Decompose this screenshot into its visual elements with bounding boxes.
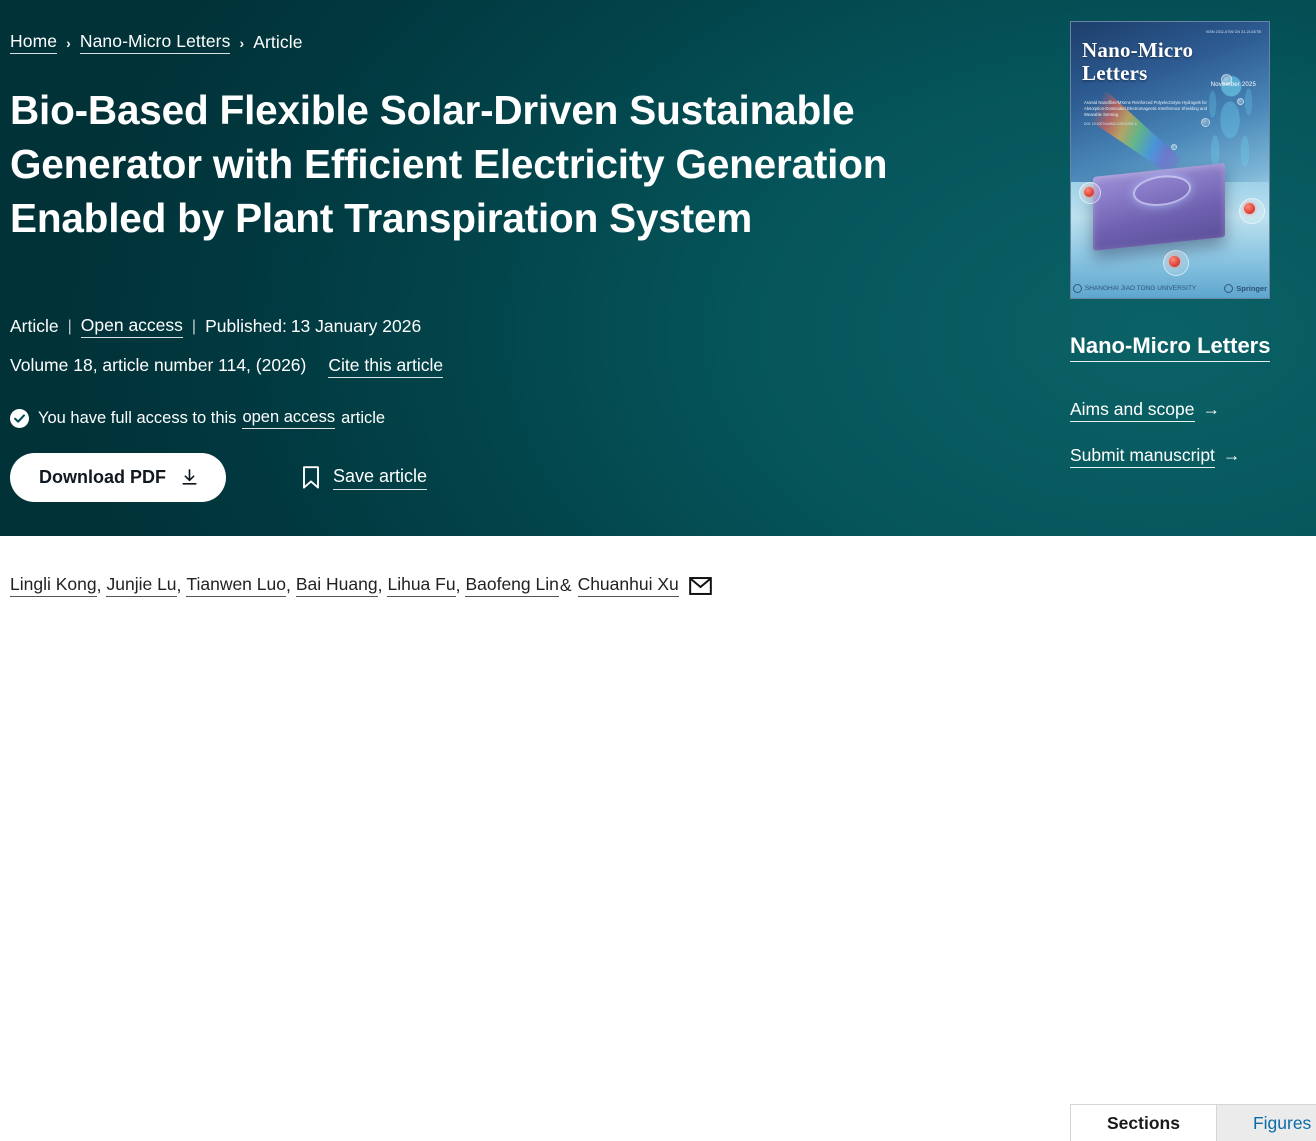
author-separator: , xyxy=(97,575,102,596)
breadcrumb-separator-icon: › xyxy=(66,35,71,51)
bookmark-icon xyxy=(302,466,320,489)
breadcrumb-current: Article xyxy=(253,32,302,53)
society-logo-text: SHANGHAI JIAO TONG UNIVERSITY xyxy=(1085,285,1196,292)
article-type: Article xyxy=(10,316,59,337)
cover-issn: ISSN 2311-6706 CN 31-2103/TB xyxy=(1206,30,1261,35)
submit-manuscript-label: Submit manuscript xyxy=(1070,445,1215,468)
cover-title: Nano-Micro Letters xyxy=(1082,39,1257,85)
cover-abstract-text: Aramid Nanofiber/MXene Reinforced Polyel… xyxy=(1084,100,1207,117)
tab-sections[interactable]: Sections xyxy=(1070,1104,1217,1141)
corresponding-author-email-icon[interactable] xyxy=(689,577,712,595)
cover-bubble xyxy=(1171,144,1177,150)
cover-title-line1: Nano-Micro xyxy=(1082,38,1193,62)
breadcrumb-separator-icon-2: › xyxy=(239,35,244,51)
tab-figures[interactable]: Figures xyxy=(1217,1104,1316,1141)
cover-red-particle xyxy=(1084,187,1094,197)
article-body-top: Lingli Kong,Junjie Lu,Tianwen Luo,Bai Hu… xyxy=(0,536,1316,605)
aims-and-scope-label: Aims and scope xyxy=(1070,399,1195,422)
arrow-right-icon-2: → xyxy=(1223,445,1241,465)
meta-divider-icon: | xyxy=(68,318,72,336)
cite-article-link[interactable]: Cite this article xyxy=(328,355,443,378)
journal-cover-image[interactable]: Nano-Micro Letters ISSN 2311-6706 CN 31-… xyxy=(1070,21,1270,299)
cover-artwork: Nano-Micro Letters ISSN 2311-6706 CN 31-… xyxy=(1071,22,1269,298)
content-tabs: SectionsFigures xyxy=(1070,1104,1316,1141)
author-separator: , xyxy=(177,575,182,596)
rail-journal-link[interactable]: Nano-Micro Letters xyxy=(1070,333,1270,362)
author-ampersand: & xyxy=(560,575,572,596)
cover-logos: SHANGHAI JIAO TONG UNIVERSITY Springer xyxy=(1071,284,1269,293)
author-link[interactable]: Lingli Kong xyxy=(10,574,97,597)
author-separator: , xyxy=(456,575,461,596)
download-pdf-button[interactable]: Download PDF xyxy=(10,453,226,502)
author-separator: , xyxy=(286,575,291,596)
meta-divider-icon-2: | xyxy=(192,318,196,336)
springer-logo: Springer xyxy=(1224,284,1267,293)
save-article-label: Save article xyxy=(333,466,427,490)
access-notice-post: article xyxy=(341,409,385,428)
springer-mark-icon xyxy=(1224,284,1233,293)
volume-info: Volume 18, article number 114, (2026) xyxy=(10,355,306,376)
author-link[interactable]: Chuanhui Xu xyxy=(578,574,679,597)
open-access-inline-link[interactable]: open access xyxy=(242,408,335,429)
save-article-button[interactable]: Save article xyxy=(302,466,427,490)
author-link[interactable]: Lihua Fu xyxy=(387,574,455,597)
cover-hydrogel-cube xyxy=(1093,163,1225,251)
breadcrumb: Home › Nano-Micro Letters › Article xyxy=(10,31,303,54)
breadcrumb-journal-link[interactable]: Nano-Micro Letters xyxy=(80,31,231,54)
download-icon xyxy=(180,468,199,487)
cover-title-line2: Letters xyxy=(1082,61,1148,85)
cover-bubble xyxy=(1237,98,1244,105)
submit-manuscript-link[interactable]: Submit manuscript→ xyxy=(1070,445,1240,466)
article-hero-banner: Home › Nano-Micro Letters › Article Bio-… xyxy=(0,0,1316,536)
full-access-notice: You have full access to this open access… xyxy=(10,408,385,429)
article-meta-line-2: Volume 18, article number 114, (2026) Ci… xyxy=(10,355,443,378)
author-list: Lingli Kong,Junjie Lu,Tianwen Luo,Bai Hu… xyxy=(10,574,712,597)
arrow-right-icon: → xyxy=(1203,399,1221,419)
society-logo: SHANGHAI JIAO TONG UNIVERSITY xyxy=(1073,284,1196,293)
author-link[interactable]: Baofeng Lin xyxy=(465,574,558,597)
download-pdf-label: Download PDF xyxy=(39,467,166,488)
breadcrumb-home-link[interactable]: Home xyxy=(10,31,57,54)
cover-red-particle xyxy=(1169,256,1180,267)
published-label: Published: xyxy=(205,316,287,337)
cover-feature-abstract: Aramid Nanofiber/MXene Reinforced Polyel… xyxy=(1084,100,1208,127)
journal-rail: Nano-Micro Letters ISSN 2311-6706 CN 31-… xyxy=(1070,0,1316,536)
cover-red-particle xyxy=(1244,203,1255,214)
article-actions: Download PDF Save article xyxy=(10,453,427,502)
author-link[interactable]: Tianwen Luo xyxy=(186,574,286,597)
cover-doi: DOI: 10.1007/s40820-025-01951-5 xyxy=(1084,121,1208,127)
check-circle-icon xyxy=(10,409,29,428)
article-meta-line-1: Article | Open access | Published: 13 Ja… xyxy=(10,315,421,338)
springer-logo-text: Springer xyxy=(1236,284,1267,293)
aims-and-scope-link[interactable]: Aims and scope→ xyxy=(1070,399,1220,420)
society-seal-icon xyxy=(1073,284,1082,293)
author-link[interactable]: Bai Huang xyxy=(296,574,378,597)
published-date: 13 January 2026 xyxy=(291,316,421,337)
author-link[interactable]: Junjie Lu xyxy=(106,574,176,597)
cover-issue-date: November 2025 xyxy=(1211,82,1256,88)
open-access-link[interactable]: Open access xyxy=(81,315,183,338)
access-notice-pre: You have full access to this xyxy=(38,409,236,428)
page-title: Bio-Based Flexible Solar-Driven Sustaina… xyxy=(10,83,910,245)
author-separator: , xyxy=(378,575,383,596)
